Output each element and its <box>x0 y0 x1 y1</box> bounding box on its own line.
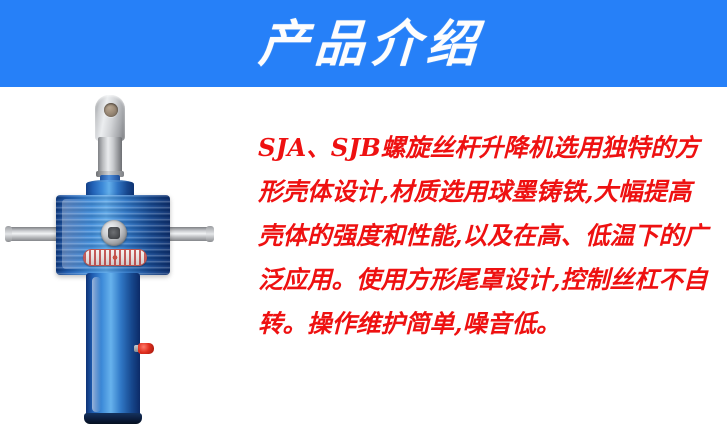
center-bolt-socket-icon <box>108 227 120 239</box>
grease-nipple-icon <box>138 343 154 354</box>
page-title: 产品介绍 <box>0 0 727 87</box>
product-description: SJA、SJB螺旋丝杆升降机选用独特的方形壳体设计,材质选用球墨铸铁,大幅提高壳… <box>258 126 710 346</box>
tube-base-cap <box>84 413 142 424</box>
lifting-screw-rod <box>98 137 122 175</box>
clevis-pin-hole-icon <box>104 103 118 117</box>
product-image <box>0 87 250 427</box>
input-shaft-right-cap <box>206 226 214 242</box>
tail-tube-highlight <box>92 277 101 412</box>
header-banner: 产品介绍 <box>0 0 727 87</box>
product-introduction-page: 产品介绍 SJA、SJB螺旋丝杆升降机选用独特的方形壳体设计,材质选用球墨铸铁,… <box>0 0 727 427</box>
nameplate-print <box>84 250 146 265</box>
manufacturer-nameplate <box>83 249 147 266</box>
input-shaft-left-cap <box>5 226 12 242</box>
clevis-end-icon <box>95 95 125 141</box>
